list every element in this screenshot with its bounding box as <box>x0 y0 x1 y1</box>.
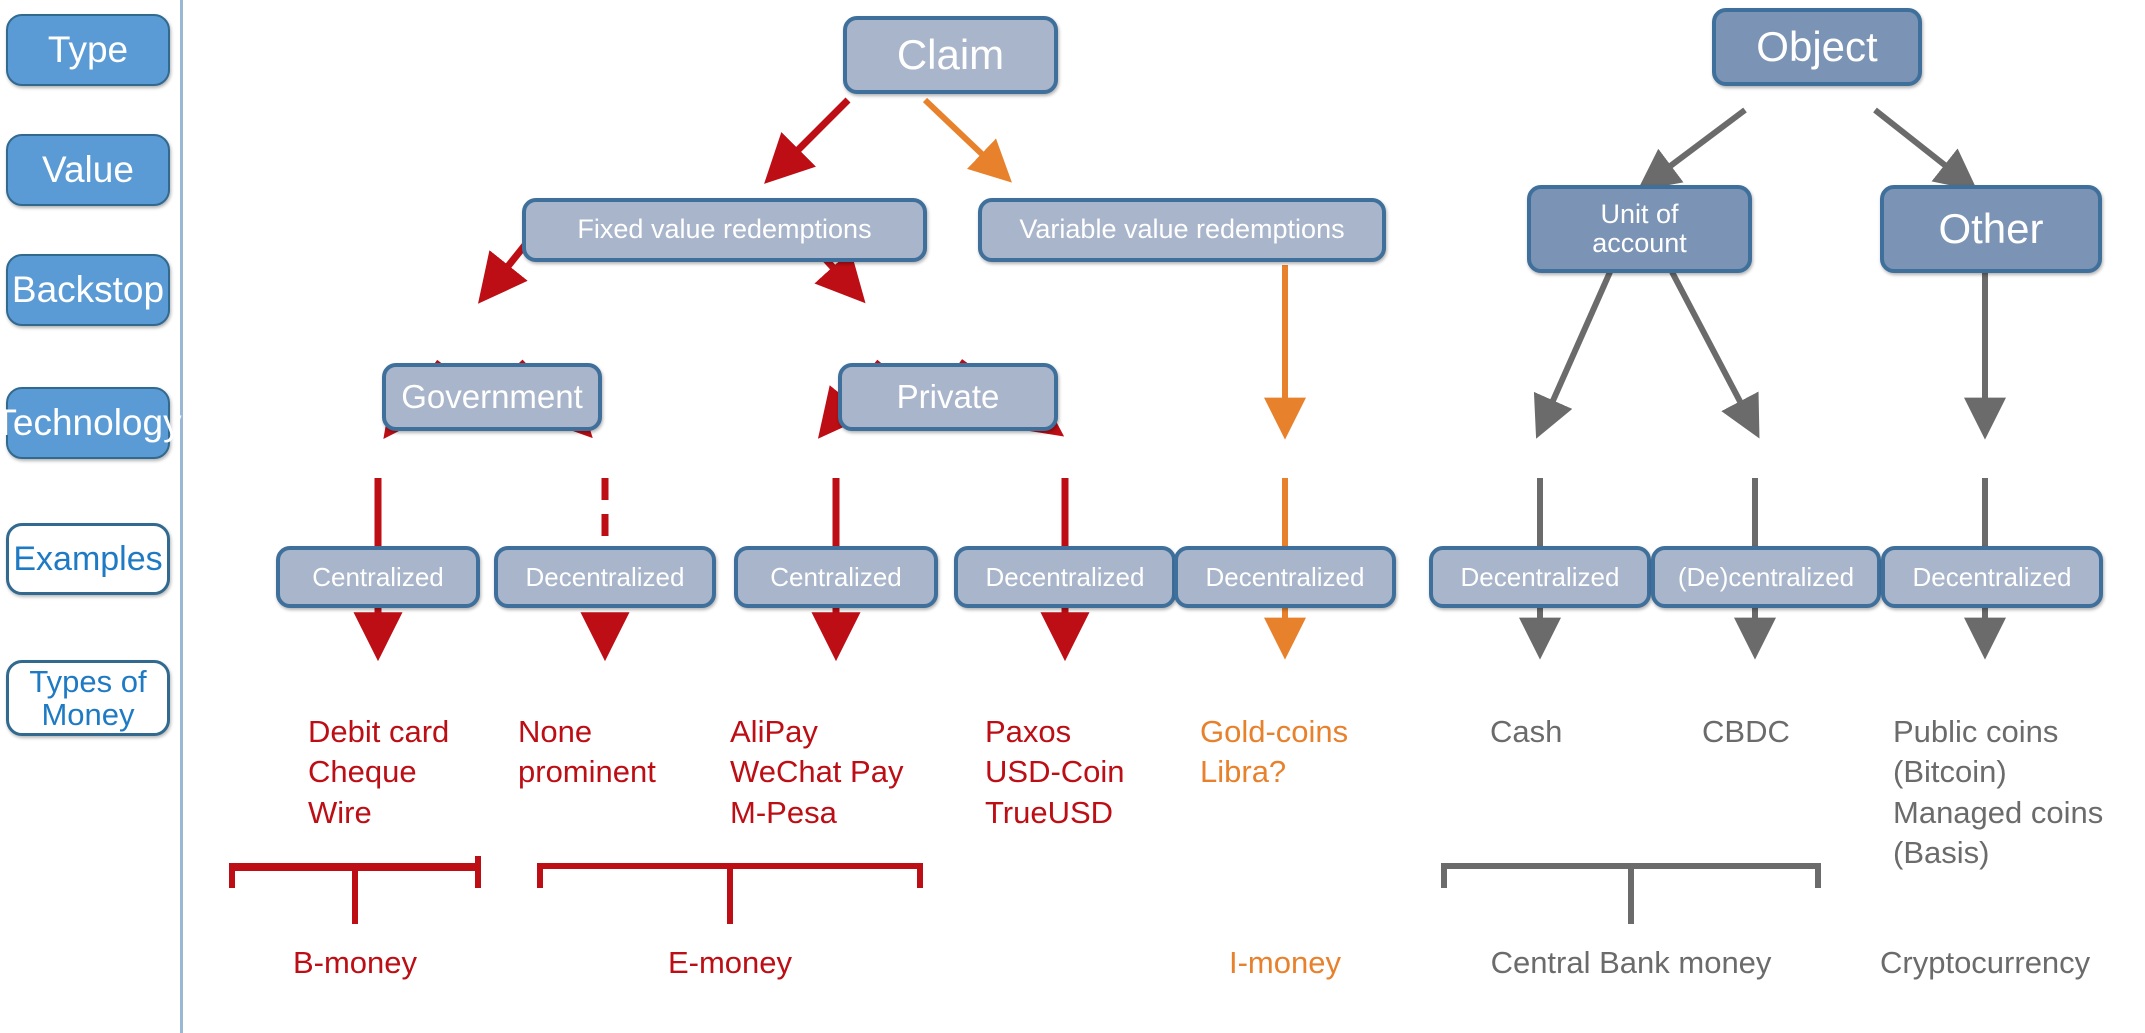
examples-none-prominent: None prominent <box>518 712 656 793</box>
rail-divider <box>180 0 183 1033</box>
rail-item-label: Type <box>48 30 128 70</box>
node-tech-other-decentralized[interactable]: Decentralized <box>1881 546 2103 608</box>
node-tech-gov-centralized[interactable]: Centralized <box>276 546 480 608</box>
node-label: Unit of account <box>1592 200 1687 258</box>
node-label: Claim <box>897 32 1004 77</box>
edge-object-other <box>1875 110 1970 185</box>
examples-publiccoins: Public coins (Bitcoin) Managed coins (Ba… <box>1893 712 2103 873</box>
node-tech-variable-decentralized[interactable]: Decentralized <box>1174 546 1396 608</box>
brace-central-bank-money <box>1444 866 1818 888</box>
brace-e-money <box>540 866 920 888</box>
money-type-central-bank-money: Central Bank money <box>1481 945 1781 981</box>
node-label: Decentralized <box>1206 563 1365 591</box>
node-label: Fixed value redemptions <box>577 215 871 244</box>
node-label: Decentralized <box>1913 563 2072 591</box>
node-other[interactable]: Other <box>1880 185 2102 273</box>
node-label: Other <box>1938 206 2043 251</box>
money-type-e-money: E-money <box>650 945 810 981</box>
connector-layer <box>0 0 2145 1033</box>
node-tech-priv-decentralized[interactable]: Decentralized <box>954 546 1176 608</box>
node-label: Government <box>401 379 583 415</box>
node-tech-uoa-decentralized[interactable]: Decentralized <box>1429 546 1651 608</box>
node-label: Decentralized <box>526 563 685 591</box>
rail-item-label: Examples <box>13 541 162 578</box>
examples-cbdc: CBDC <box>1702 712 1790 752</box>
node-label: Variable value redemptions <box>1019 215 1344 244</box>
node-object[interactable]: Object <box>1712 8 1922 86</box>
examples-debit: Debit card Cheque Wire <box>308 712 449 833</box>
rail-item-types-of-money[interactable]: Types of Money <box>6 660 170 736</box>
examples-paxos: Paxos USD-Coin TrueUSD <box>985 712 1125 833</box>
node-label: Centralized <box>770 563 902 591</box>
node-tech-gov-decentralized[interactable]: Decentralized <box>494 546 716 608</box>
node-tech-priv-centralized[interactable]: Centralized <box>734 546 938 608</box>
examples-cash: Cash <box>1490 712 1562 752</box>
rail-item-backstop[interactable]: Backstop <box>6 254 170 326</box>
edge-claim-variable <box>925 100 1005 176</box>
edge-uoa-decentralized <box>1540 272 1610 430</box>
money-type-b-money: B-money <box>275 945 435 981</box>
node-unit-of-account[interactable]: Unit of account <box>1527 185 1752 273</box>
brace-b-money <box>232 856 478 888</box>
node-tech-uoa-de-centralized[interactable]: (De)centralized <box>1651 546 1881 608</box>
node-label: (De)centralized <box>1678 563 1854 591</box>
node-label: Decentralized <box>986 563 1145 591</box>
examples-alipay: AliPay WeChat Pay M-Pesa <box>730 712 903 833</box>
examples-goldcoins: Gold-coins Libra? <box>1200 712 1348 793</box>
rail-item-label: Types of Money <box>29 665 146 732</box>
node-fixed-value-redemptions[interactable]: Fixed value redemptions <box>522 198 927 262</box>
rail-item-label: Value <box>42 150 134 190</box>
money-type-cryptocurrency: Cryptocurrency <box>1880 945 2130 981</box>
node-label: Private <box>897 379 1000 415</box>
edge-uoa-decentralized2 <box>1672 272 1755 430</box>
rail-item-type[interactable]: Type <box>6 14 170 86</box>
edge-object-unitofaccount <box>1645 110 1745 185</box>
node-label: Centralized <box>312 563 444 591</box>
node-claim[interactable]: Claim <box>843 16 1058 94</box>
rail-item-value[interactable]: Value <box>6 134 170 206</box>
diagram-canvas: Type Value Backstop Technology Examples … <box>0 0 2145 1033</box>
node-label: Object <box>1756 24 1877 69</box>
rail-item-label: Backstop <box>12 270 164 310</box>
node-private[interactable]: Private <box>838 363 1058 431</box>
node-government[interactable]: Government <box>382 363 602 431</box>
node-variable-value-redemptions[interactable]: Variable value redemptions <box>978 198 1386 262</box>
rail-item-label: Technology <box>0 403 182 443</box>
edge-claim-fixed <box>772 100 848 176</box>
rail-item-technology[interactable]: Technology <box>6 387 170 459</box>
node-label: Decentralized <box>1461 563 1620 591</box>
money-type-i-money: I-money <box>1205 945 1365 981</box>
rail-item-examples[interactable]: Examples <box>6 523 170 595</box>
